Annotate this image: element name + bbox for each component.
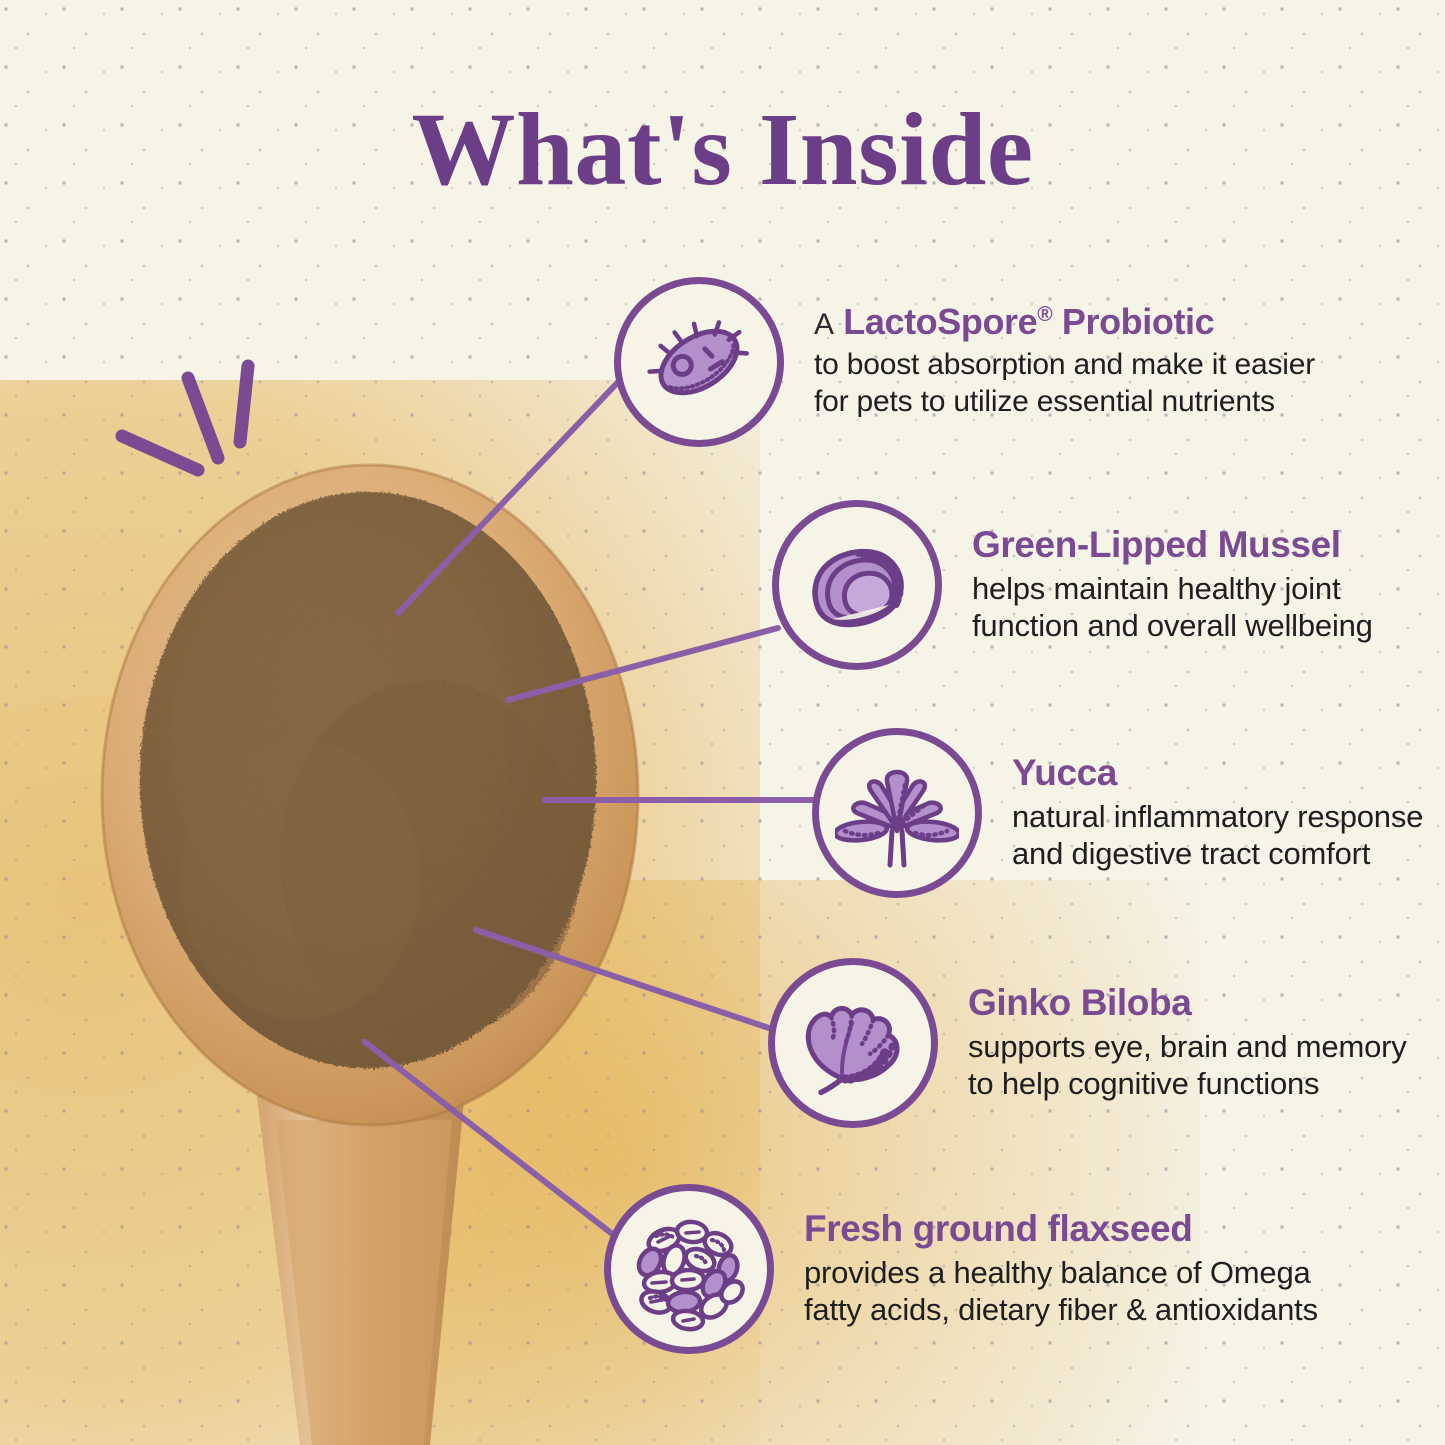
heading-lead-word: A (814, 308, 834, 341)
callout-desc-line2-ginko: to help cognitive functions (968, 1065, 1407, 1103)
heading-suffix: Probiotic (1052, 301, 1214, 342)
page-title: What's Inside (0, 98, 1445, 202)
callout-heading-yucca: Yucca (1012, 753, 1423, 793)
badge-flaxseed (604, 1184, 774, 1354)
bacteria-icon (639, 302, 759, 422)
callout-heading-mussel: Green-Lipped Mussel (972, 525, 1373, 565)
callout-desc-line1-yucca: natural inflammatory response (1012, 798, 1423, 836)
callout-heading-flaxseed: Fresh ground flaxseed (804, 1209, 1318, 1249)
callout-heading-ginko: Ginko Biloba (968, 983, 1407, 1023)
callout-mussel[interactable]: Green-Lipped Mussel helps maintain healt… (772, 500, 1373, 670)
callout-text-probiotic: A LactoSpore® Probiotic to boost absorpt… (814, 303, 1315, 420)
mussel-shell-icon (795, 523, 919, 647)
badge-yucca (812, 728, 982, 898)
callout-desc-line1-probiotic: to boost absorption and make it easier (814, 347, 1315, 384)
callout-text-yucca: Yucca natural inflammatory response and … (1012, 753, 1423, 874)
yucca-plant-icon (835, 751, 959, 875)
callout-text-ginko: Ginko Biloba supports eye, brain and mem… (968, 983, 1407, 1104)
registered-mark: ® (1037, 303, 1052, 326)
badge-ginko (768, 958, 938, 1128)
infographic-canvas: What's Inside (0, 0, 1445, 1445)
callout-flaxseed[interactable]: Fresh ground flaxseed provides a healthy… (604, 1184, 1318, 1354)
badge-probiotic (614, 277, 784, 447)
badge-mussel (772, 500, 942, 670)
callout-desc-line1-ginko: supports eye, brain and memory (968, 1028, 1407, 1066)
callout-desc-line1-mussel: helps maintain healthy joint (972, 570, 1373, 608)
callout-desc-line2-yucca: and digestive tract comfort (1012, 835, 1423, 873)
callout-desc-line2-flaxseed: fatty acids, dietary fiber & antioxidant… (804, 1291, 1318, 1329)
ginkgo-leaf-icon (792, 982, 914, 1104)
callout-ginko[interactable]: Ginko Biloba supports eye, brain and mem… (768, 958, 1407, 1128)
callout-text-mussel: Green-Lipped Mussel helps maintain healt… (972, 525, 1373, 646)
callout-desc-line2-mussel: function and overall wellbeing (972, 607, 1373, 645)
heading-brand: LactoSpore (843, 301, 1037, 342)
sparkle-dashes-icon (100, 350, 320, 510)
callout-heading-probiotic: A LactoSpore® Probiotic (814, 303, 1315, 342)
callout-probiotic[interactable]: A LactoSpore® Probiotic to boost absorpt… (614, 277, 1315, 447)
callout-yucca[interactable]: Yucca natural inflammatory response and … (812, 728, 1423, 898)
callout-desc-line2-probiotic: for pets to utilize essential nutrients (814, 384, 1315, 421)
callout-text-flaxseed: Fresh ground flaxseed provides a healthy… (804, 1209, 1318, 1330)
flaxseed-cluster-icon (626, 1206, 752, 1332)
callout-desc-line1-flaxseed: provides a healthy balance of Omega (804, 1254, 1318, 1292)
